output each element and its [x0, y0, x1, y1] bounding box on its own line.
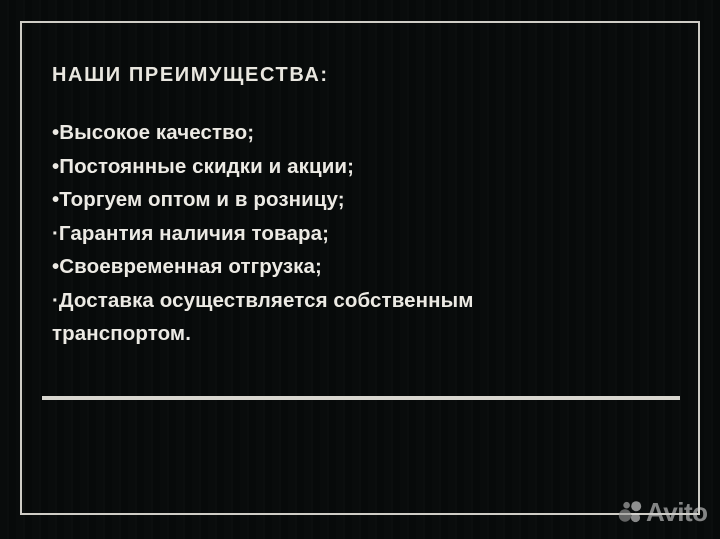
list-item: ·Доставка осуществляется собственным тра…	[52, 284, 684, 351]
benefits-list: •Высокое качество; •Постоянные скидки и …	[52, 116, 684, 351]
poster-content: НАШИ ПРЕИМУЩЕСТВА: •Высокое качество; •П…	[52, 60, 684, 351]
list-item: •Постоянные скидки и акции;	[52, 150, 684, 184]
list-item: •Высокое качество;	[52, 116, 684, 150]
list-item: •Торгуем оптом и в розницу;	[52, 183, 684, 217]
list-item: ·Гарантия наличия товара;	[52, 217, 684, 251]
page-title: НАШИ ПРЕИМУЩЕСТВА:	[52, 60, 684, 90]
avito-dots-icon	[618, 501, 644, 523]
avito-watermark: Avito	[618, 499, 708, 525]
poster-canvas: НАШИ ПРЕИМУЩЕСТВА: •Высокое качество; •П…	[0, 0, 720, 539]
horizontal-divider	[42, 396, 680, 400]
list-item: •Своевременная отгрузка;	[52, 250, 684, 284]
avito-wordmark-label: Avito	[646, 499, 708, 525]
